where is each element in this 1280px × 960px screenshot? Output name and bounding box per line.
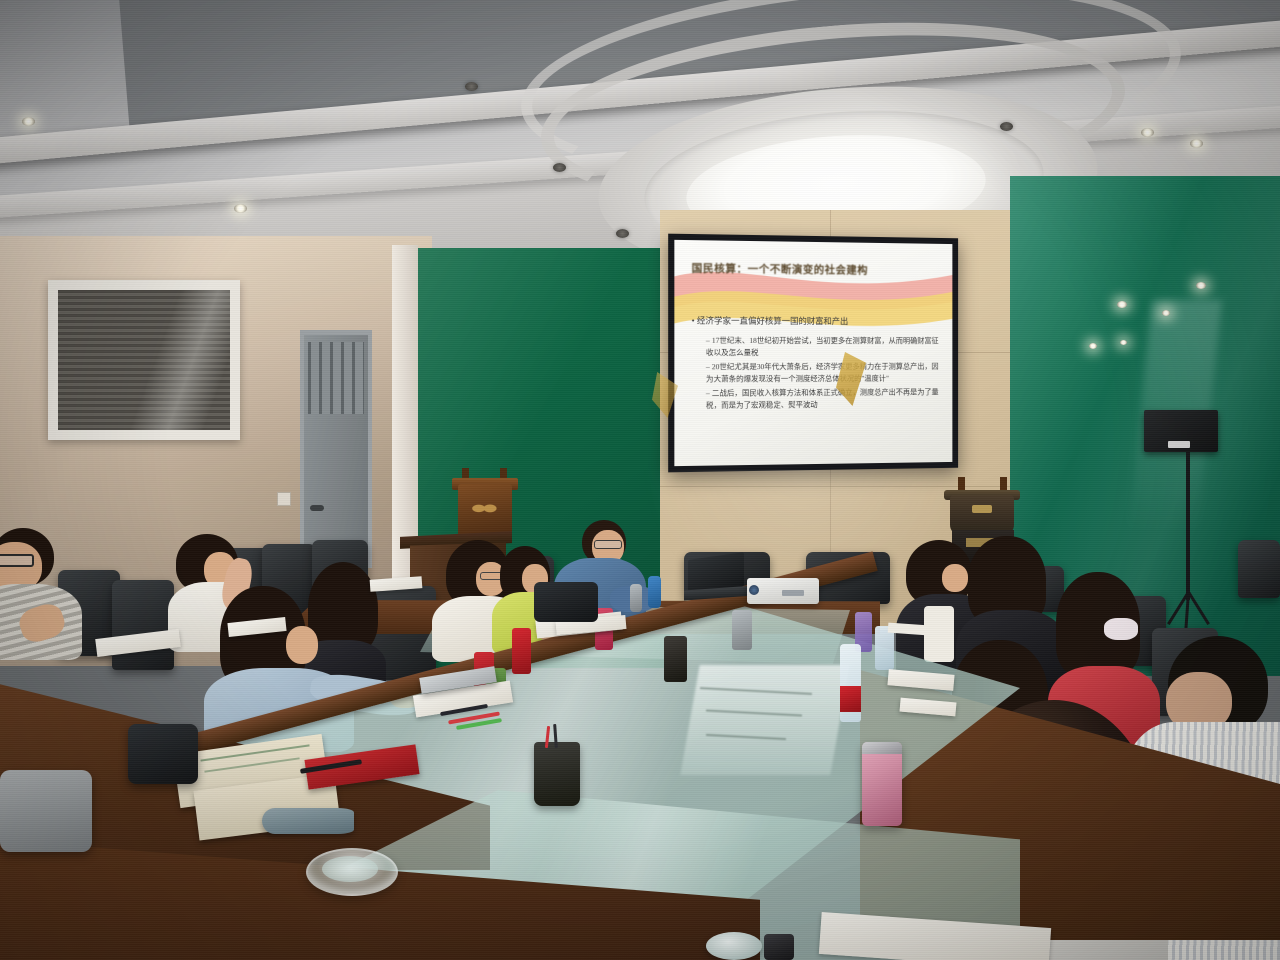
slide-bullet-main: • 经济学家一直偏好核算一国的财富和产出 bbox=[692, 315, 942, 328]
list-item: –20世纪尤其是30年代大萧条后，经济学家更多精力在于测算总产出，因为大萧条的爆… bbox=[706, 361, 944, 386]
window-glare bbox=[58, 290, 230, 430]
wall-light-reflection bbox=[1162, 310, 1170, 316]
chair-back[interactable] bbox=[112, 580, 174, 670]
steel-thermos[interactable] bbox=[732, 610, 752, 650]
laptop-bag[interactable] bbox=[128, 724, 198, 784]
sub-bullet-text: 20世纪尤其是30年代大萧条后，经济学家更多精力在于测算总产出，因为大萧条的爆发… bbox=[706, 362, 939, 384]
projection-screen: 国民核算：一个不断演变的社会建构 • 经济学家一直偏好核算一国的财富和产出 –1… bbox=[668, 234, 958, 473]
slide-title: 国民核算：一个不断演变的社会建构 bbox=[692, 260, 947, 278]
blue-tumbler[interactable] bbox=[648, 576, 661, 608]
projector-lens-icon bbox=[749, 585, 759, 595]
water-bottle-label bbox=[840, 686, 861, 712]
downlight-icon bbox=[1190, 139, 1203, 148]
downlight-icon bbox=[1141, 128, 1154, 137]
speaker-badge bbox=[1168, 441, 1190, 448]
slide-surface: 国民核算：一个不断演变的社会建构 • 经济学家一直偏好核算一国的财富和产出 –1… bbox=[674, 240, 952, 466]
hair-clip bbox=[1104, 618, 1138, 640]
dash-marker: – bbox=[706, 362, 710, 371]
ornament-carving bbox=[464, 498, 506, 524]
door-handle[interactable] bbox=[310, 505, 324, 511]
tumbler-lid[interactable] bbox=[862, 742, 902, 754]
eyeglasses-icon bbox=[0, 554, 34, 567]
slide-reflection-on-glass bbox=[680, 665, 849, 775]
red-water-bottle[interactable] bbox=[512, 628, 531, 674]
projector-control-panel[interactable] bbox=[782, 590, 804, 596]
bag-front-left[interactable] bbox=[0, 770, 92, 852]
ashtray-bowl bbox=[322, 856, 378, 882]
ceiling-vent-icon bbox=[1000, 122, 1013, 131]
downlight-icon bbox=[22, 117, 35, 126]
ceiling-vent-icon bbox=[553, 163, 566, 172]
list-item: –17世纪末、18世纪初开始尝试，当初更多在测算财富，从而明确财富征收以及怎么量… bbox=[706, 335, 944, 359]
sub-bullet-text: 二战后，国民收入核算方法和体系正式确立，测度总产出不再是为了量税，而是为了宏观稳… bbox=[706, 388, 939, 410]
dash-marker: – bbox=[706, 389, 710, 398]
light-switch[interactable] bbox=[277, 492, 291, 506]
wall-light-reflection bbox=[1089, 343, 1097, 349]
person-left-front bbox=[0, 528, 106, 658]
slide-bullet-main-text: 经济学家一直偏好核算一国的财富和产出 bbox=[697, 317, 848, 327]
small-dish[interactable] bbox=[706, 932, 762, 960]
bag-on-chair[interactable] bbox=[534, 582, 598, 622]
downlight-icon bbox=[234, 204, 247, 213]
pink-tumbler[interactable] bbox=[862, 742, 902, 826]
conference-room-photo: 国民核算：一个不断演变的社会建构 • 经济学家一直偏好核算一国的财富和产出 –1… bbox=[0, 0, 1280, 960]
ceiling-vent-icon bbox=[616, 229, 629, 238]
door-grille bbox=[308, 342, 364, 414]
wall-light-reflection bbox=[1196, 282, 1206, 289]
wall-light-reflection bbox=[1120, 340, 1127, 345]
face bbox=[286, 626, 318, 664]
bronze-ding-vessel bbox=[950, 495, 1014, 535]
folded-eyeglasses[interactable] bbox=[262, 808, 354, 834]
small-box[interactable] bbox=[764, 934, 794, 960]
chair-back[interactable] bbox=[1238, 540, 1280, 598]
pen-holder-cup[interactable] bbox=[534, 742, 580, 806]
urn-handle bbox=[958, 477, 965, 491]
slide-bullet-marker: • bbox=[692, 317, 695, 326]
ceiling-vent-icon bbox=[465, 82, 478, 91]
urn-handle bbox=[1000, 477, 1007, 491]
urn-gold-plaque bbox=[972, 505, 992, 513]
wall-light-reflection bbox=[1117, 301, 1127, 308]
list-item: –二战后，国民收入核算方法和体系正式确立，测度总产出不再是为了量税，而是为了宏观… bbox=[706, 387, 944, 412]
steel-thermos[interactable] bbox=[630, 584, 642, 612]
eyeglasses-icon bbox=[594, 540, 622, 549]
dark-tumbler[interactable] bbox=[664, 636, 687, 682]
speaker-stand-pole bbox=[1186, 452, 1190, 600]
slide-sub-bullets: –17世纪末、18世纪初开始尝试，当初更多在测算财富，从而明确财富征收以及怎么量… bbox=[706, 335, 944, 414]
sub-bullet-text: 17世纪末、18世纪初开始尝试，当初更多在测算财富，从而明确财富征收以及怎么量税 bbox=[706, 336, 939, 357]
dash-marker: – bbox=[706, 336, 710, 345]
